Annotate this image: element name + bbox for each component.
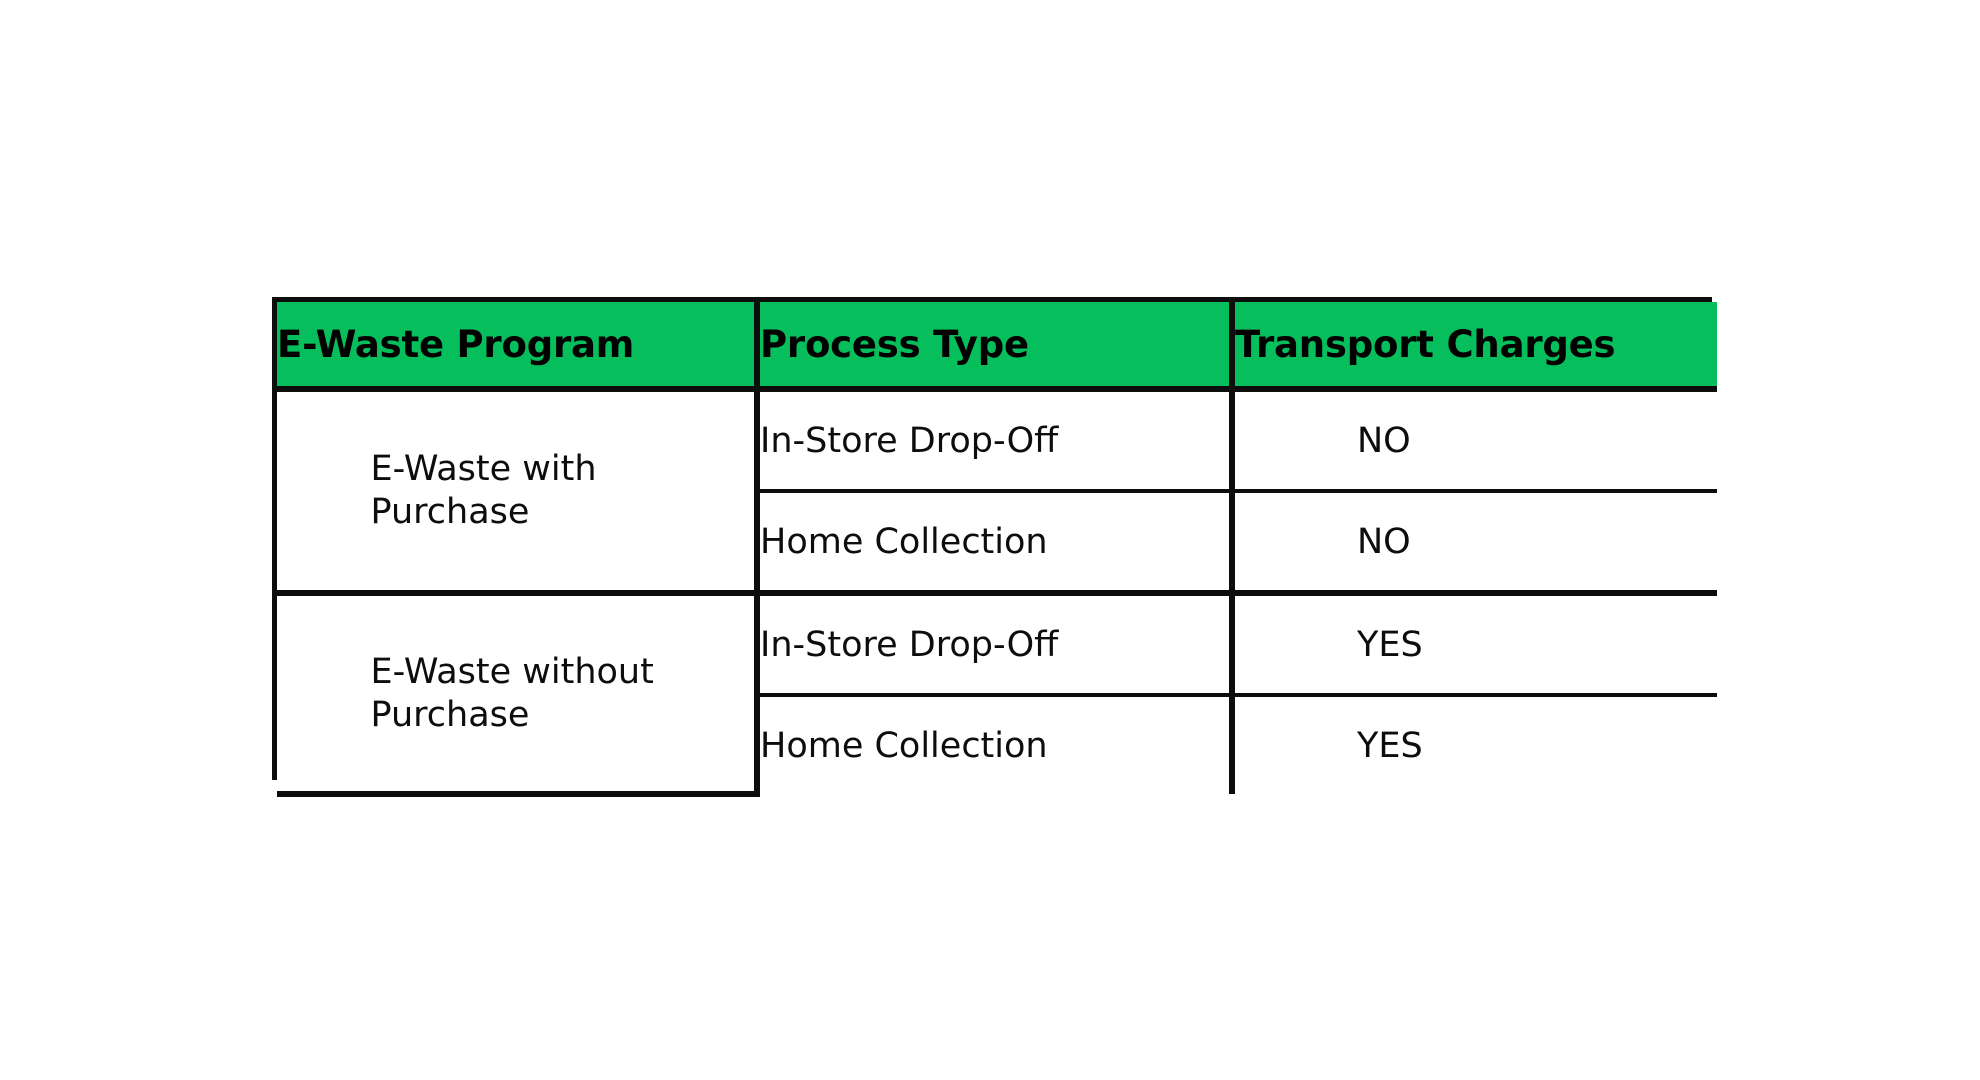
- charges-value: NO: [1311, 421, 1641, 461]
- charges-value: YES: [1311, 625, 1641, 665]
- charges-value: YES: [1311, 726, 1641, 766]
- program-cell-group-1: E-Waste with Purchase: [277, 389, 757, 593]
- column-header-transport-charges: Transport Charges: [1232, 302, 1717, 389]
- table-header-row: E-Waste Program Process Type Transport C…: [277, 302, 1717, 389]
- column-header-label-charges: Transport Charges: [1235, 326, 1717, 365]
- column-header-label-program: E-Waste Program: [277, 326, 754, 365]
- charges-cell: NO: [1232, 389, 1717, 491]
- process-label: In-Store Drop-Off: [760, 421, 1058, 461]
- table-header: E-Waste Program Process Type Transport C…: [277, 302, 1717, 389]
- charges-value: NO: [1311, 522, 1641, 562]
- process-label: Home Collection: [760, 726, 1048, 766]
- column-header-e-waste-program: E-Waste Program: [277, 302, 757, 389]
- process-cell: In-Store Drop-Off: [757, 389, 1232, 491]
- charges-cell: YES: [1232, 695, 1717, 794]
- program-label-group-1: E-Waste with Purchase: [371, 448, 661, 533]
- column-header-process-type: Process Type: [757, 302, 1232, 389]
- column-header-label-process: Process Type: [760, 326, 1229, 365]
- process-label: In-Store Drop-Off: [760, 625, 1058, 665]
- charges-cell: NO: [1232, 491, 1717, 593]
- process-label: Home Collection: [760, 522, 1048, 562]
- process-cell: Home Collection: [757, 491, 1232, 593]
- charges-cell: YES: [1232, 593, 1717, 695]
- process-cell: In-Store Drop-Off: [757, 593, 1232, 695]
- program-cell-group-2: E-Waste without Purchase: [277, 593, 757, 794]
- e-waste-program-table-container: E-Waste Program Process Type Transport C…: [272, 297, 1712, 780]
- process-cell: Home Collection: [757, 695, 1232, 794]
- table-row: E-Waste without Purchase In-Store Drop-O…: [277, 593, 1717, 695]
- e-waste-program-table: E-Waste Program Process Type Transport C…: [277, 302, 1717, 797]
- table-row: E-Waste with Purchase In-Store Drop-Off …: [277, 389, 1717, 491]
- page-canvas: E-Waste Program Process Type Transport C…: [0, 0, 1980, 1080]
- table-body: E-Waste with Purchase In-Store Drop-Off …: [277, 389, 1717, 794]
- program-label-group-2: E-Waste without Purchase: [371, 651, 661, 736]
